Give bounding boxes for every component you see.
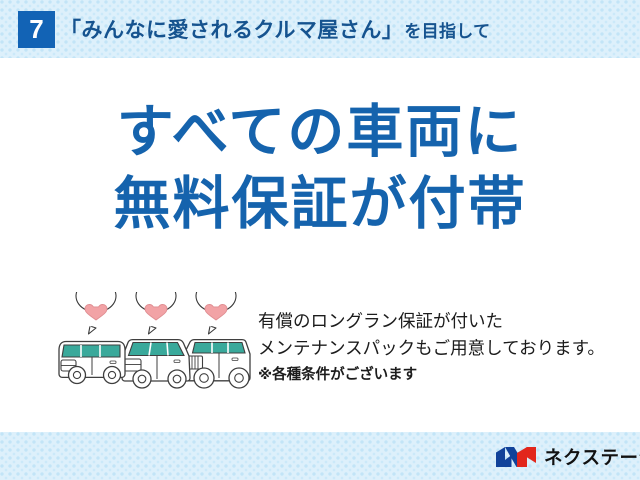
brand-logo: ネクステージ — [495, 442, 640, 472]
header-title-sub-text: を目指して — [404, 17, 490, 42]
car-suv-jeep-icon — [184, 340, 250, 388]
headline-line-1: すべての車両に — [0, 96, 640, 168]
body-copy-line-1: 有償のロングラン保証が付いた — [258, 308, 630, 335]
cars-illustration — [56, 292, 252, 402]
body-copy-note: ※各種条件がございます — [258, 363, 630, 388]
car-minivan-icon — [122, 340, 190, 388]
headline-line-2: 無料保証が付帯 — [0, 168, 640, 240]
headline: すべての車両に 無料保証が付帯 — [0, 96, 640, 240]
nexstage-n-mark-icon — [495, 444, 537, 470]
header-title: 「みんなに愛されるクルマ屋さん」 を目指して — [60, 14, 490, 46]
slide-canvas: 7 「みんなに愛されるクルマ屋さん」 を目指して すべての車両に 無料保証が付帯 — [0, 0, 640, 480]
heart-bubble-1-icon — [76, 292, 116, 334]
car-kei-wagon-icon — [59, 342, 125, 384]
body-copy: 有償のロングラン保証が付いた メンテナンスパックもご用意しております。 ※各種条… — [258, 308, 630, 388]
heart-bubble-3-icon — [196, 292, 236, 334]
brand-logo-text: ネクステージ — [544, 444, 640, 470]
header-step-number-badge: 7 — [18, 11, 55, 48]
header-title-main-text: 「みんなに愛されるクルマ屋さん」 — [60, 14, 403, 44]
body-copy-line-2: メンテナンスパックもご用意しております。 — [258, 335, 630, 362]
heart-bubble-2-icon — [136, 292, 176, 334]
